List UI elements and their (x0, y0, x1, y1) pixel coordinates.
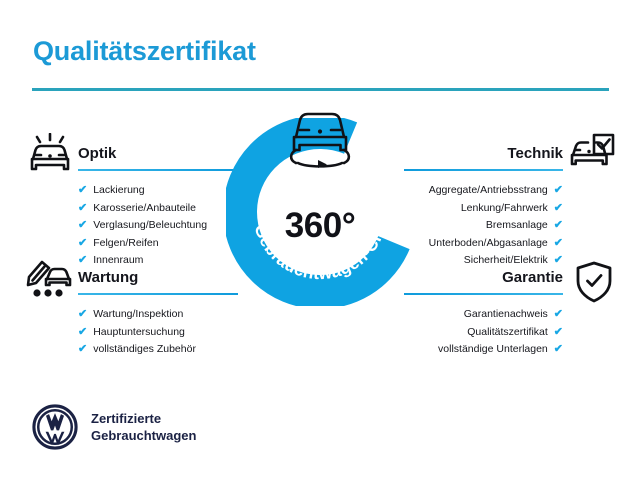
list-item-label: Karosserie/Anbauteile (93, 200, 196, 218)
footer-brand: Zertifizierte Gebrauchtwagen (32, 404, 196, 450)
section-wartung-divider (78, 293, 238, 295)
car-rotate-icon (278, 108, 362, 170)
section-technik-header: Technik (404, 144, 563, 172)
list-item-label: vollständiges Zubehör (93, 341, 196, 359)
list-item-label: Qualitätszertifikat (467, 324, 548, 342)
list-item-label: Hauptuntersuchung (93, 324, 185, 342)
list-item: Garantienachweis ✔ (404, 306, 563, 324)
list-item: ✔ Verglasung/Beleuchtung (78, 217, 238, 235)
list-item-label: Lenkung/Fahrwerk (461, 200, 548, 218)
check-icon: ✔ (554, 217, 563, 235)
service-book-icon (24, 257, 74, 306)
list-item: ✔ Karosserie/Anbauteile (78, 200, 238, 218)
section-garantie-divider (404, 293, 563, 295)
section-wartung-items: ✔ Wartung/Inspektion ✔ Hauptuntersuchung… (78, 306, 238, 359)
footer-line-2: Gebrauchtwagen (91, 427, 196, 444)
list-item: Sicherheit/Elektrik ✔ (404, 252, 563, 270)
check-icon: ✔ (554, 324, 563, 342)
list-item-label: Bremsanlage (486, 217, 548, 235)
list-item: Unterboden/Abgasanlage ✔ (404, 235, 563, 253)
section-optik-items: ✔ Lackierung ✔ Karosserie/Anbauteile ✔ V… (78, 182, 238, 270)
section-wartung-title: Wartung (78, 268, 238, 288)
check-icon: ✔ (78, 182, 87, 200)
section-optik-divider (78, 169, 238, 171)
list-item: ✔ vollständiges Zubehör (78, 341, 238, 359)
section-technik-divider (404, 169, 563, 171)
list-item-label: Verglasung/Beleuchtung (93, 217, 207, 235)
section-garantie-title: Garantie (404, 268, 563, 288)
section-wartung: Wartung ✔ Wartung/Inspektion ✔ Hauptunte… (78, 268, 238, 359)
check-icon: ✔ (78, 306, 87, 324)
list-item-label: vollständige Unterlagen (438, 341, 548, 359)
check-icon: ✔ (554, 200, 563, 218)
list-item: vollständige Unterlagen ✔ (404, 341, 563, 359)
header-divider (32, 88, 609, 91)
list-item: Aggregate/Antriebsstrang ✔ (404, 182, 563, 200)
car-shine-icon (26, 133, 74, 182)
section-technik-title: Technik (404, 144, 563, 164)
section-wartung-header: Wartung (78, 268, 238, 296)
list-item-label: Garantienachweis (464, 306, 548, 324)
footer-line-1: Zertifizierte (91, 410, 196, 427)
check-icon: ✔ (78, 200, 87, 218)
list-item: Qualitätszertifikat ✔ (404, 324, 563, 342)
list-item: Bremsanlage ✔ (404, 217, 563, 235)
check-icon: ✔ (78, 252, 87, 270)
list-item-label: Innenraum (93, 252, 143, 270)
check-icon: ✔ (554, 306, 563, 324)
section-technik-items: Aggregate/Antriebsstrang ✔ Lenkung/Fahrw… (404, 182, 563, 270)
section-optik: Optik ✔ Lackierung ✔ Karosserie/Anbautei… (78, 144, 238, 270)
shield-check-icon (573, 260, 615, 309)
list-item-label: Sicherheit/Elektrik (464, 252, 548, 270)
list-item-label: Unterboden/Abgasanlage (429, 235, 548, 253)
list-item-label: Wartung/Inspektion (93, 306, 183, 324)
list-item-label: Lackierung (93, 182, 144, 200)
list-item: ✔ Felgen/Reifen (78, 235, 238, 253)
list-item: Lenkung/Fahrwerk ✔ (404, 200, 563, 218)
section-optik-title: Optik (78, 144, 238, 164)
section-garantie: Garantie Garantienachweis ✔ Qualitätszer… (404, 268, 563, 359)
check-icon: ✔ (78, 324, 87, 342)
badge-360-check: Gebrauchtwagen-Check 360° (226, 118, 414, 306)
section-technik: Technik Aggregate/Antriebsstrang ✔ Lenku… (404, 144, 563, 270)
check-icon: ✔ (78, 341, 87, 359)
check-icon: ✔ (554, 341, 563, 359)
car-checkbox-icon (570, 133, 616, 182)
section-garantie-items: Garantienachweis ✔ Qualitätszertifikat ✔… (404, 306, 563, 359)
list-item: ✔ Hauptuntersuchung (78, 324, 238, 342)
vw-logo (32, 404, 78, 450)
check-icon: ✔ (78, 217, 87, 235)
check-icon: ✔ (554, 252, 563, 270)
certificate-page: Qualitätszertifikat Optik ✔ Lackierung ✔… (0, 0, 640, 480)
check-icon: ✔ (554, 182, 563, 200)
list-item-label: Felgen/Reifen (93, 235, 158, 253)
list-item: ✔ Innenraum (78, 252, 238, 270)
section-garantie-header: Garantie (404, 268, 563, 296)
check-icon: ✔ (554, 235, 563, 253)
list-item: ✔ Lackierung (78, 182, 238, 200)
list-item: ✔ Wartung/Inspektion (78, 306, 238, 324)
section-optik-header: Optik (78, 144, 238, 172)
check-icon: ✔ (78, 235, 87, 253)
page-title: Qualitätszertifikat (33, 36, 256, 67)
list-item-label: Aggregate/Antriebsstrang (429, 182, 548, 200)
footer-brand-text: Zertifizierte Gebrauchtwagen (91, 410, 196, 444)
